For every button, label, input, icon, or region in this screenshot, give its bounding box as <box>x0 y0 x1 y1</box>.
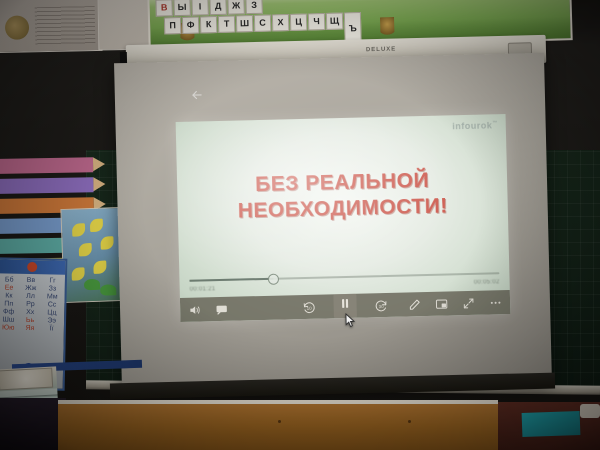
letter-card: Ж <box>227 0 244 15</box>
progress-track[interactable] <box>189 272 499 282</box>
rewind-10-icon[interactable]: 10 <box>303 300 316 313</box>
letter-card: Ы <box>173 0 190 16</box>
chart-cell: Яя <box>19 325 40 332</box>
cabinet-nail <box>278 420 281 423</box>
chart-cell: Ее <box>0 284 19 291</box>
chart-dot-icon <box>27 262 37 272</box>
emblem-icon <box>5 15 29 39</box>
controls-right-group <box>408 296 502 311</box>
chart-cell: Мм <box>42 293 63 300</box>
forward-30-icon[interactable]: 30 <box>374 298 387 311</box>
svg-text:30: 30 <box>379 303 385 308</box>
letter-card: Ф <box>182 16 199 33</box>
pencil-icon <box>0 157 93 174</box>
chart-cell: Кк <box>0 292 19 299</box>
letter-card: С <box>254 14 271 31</box>
controls-left-group <box>188 302 228 316</box>
time-total: 00:05:02 <box>474 279 500 286</box>
flower-poster <box>60 207 123 303</box>
letter-card: І <box>191 0 208 16</box>
chart-cell: Фф <box>0 308 19 315</box>
wall-poster-emblem <box>0 0 103 53</box>
volume-icon[interactable] <box>188 303 201 316</box>
leaf-icon <box>100 284 116 296</box>
chart-cell: Зз <box>42 285 63 292</box>
video-player[interactable]: infourok™ БЕЗ РЕАЛЬНОЙ НЕОБХОДИМОСТИ! 00… <box>176 114 511 322</box>
flower-petal-icon <box>79 243 92 256</box>
letter-card: Ч <box>308 13 325 30</box>
chart-cell: Рр <box>20 301 41 308</box>
letter-card: Ш <box>236 15 253 32</box>
chart-cell: Ьь <box>20 317 41 324</box>
wooden-cabinet <box>58 400 498 450</box>
flower-petal-icon <box>93 261 106 274</box>
pencil-icon <box>0 177 94 194</box>
letter-card: Х <box>272 14 289 31</box>
letter-card: Ц <box>290 13 307 30</box>
infourok-watermark: infourok™ <box>452 120 498 131</box>
left-dark-furniture <box>0 398 66 450</box>
chart-cell: Шш <box>0 316 19 323</box>
progress-filled <box>189 278 273 282</box>
captions-icon[interactable] <box>215 302 228 315</box>
time-elapsed: 00:01:21 <box>190 286 216 293</box>
slide-title: БЕЗ РЕАЛЬНОЙ НЕОБХОДИМОСТИ! <box>177 166 508 225</box>
flower-petal-icon <box>90 219 103 232</box>
flower-petal-icon <box>72 223 85 236</box>
chart-cell: Жж <box>20 285 41 292</box>
alphabet-chart-grid: Бб Вв Гг Ее Жж Зз Кк Лл Мм Пп Рр Сс Фф Х… <box>0 273 65 335</box>
flower-petal-icon <box>100 236 113 249</box>
cabinet-nail <box>408 420 411 423</box>
pause-icon[interactable] <box>338 297 351 310</box>
letter-card: К <box>200 16 217 33</box>
letter-card: П <box>164 17 181 34</box>
picture-in-picture-icon[interactable] <box>435 297 448 310</box>
letter-card: Щ <box>326 12 343 29</box>
white-object <box>580 404 600 418</box>
letter-card: З <box>245 0 262 14</box>
poster-text-lines <box>35 6 96 45</box>
chart-cell: Гг <box>42 277 63 284</box>
banner-tree-icon <box>380 17 395 37</box>
mouse-cursor <box>345 313 356 328</box>
fullscreen-icon[interactable] <box>462 296 475 309</box>
chart-cell: Бб <box>0 276 20 283</box>
alphabet-chart-header <box>0 259 65 274</box>
chart-cell: Ээ <box>41 317 62 324</box>
notebook-cover <box>0 368 53 391</box>
back-arrow-icon[interactable] <box>190 88 204 102</box>
leaf-icon <box>84 279 100 291</box>
chart-cell: Вв <box>20 277 41 284</box>
classroom-photo: В Ы І Д Ж З П Ф К Т Ш С Х Ц Ч Щ Ъ <box>0 0 600 450</box>
svg-text:10: 10 <box>307 305 313 310</box>
chart-cell: Її <box>41 325 62 332</box>
flower-petal-icon <box>71 267 84 280</box>
letter-card: Т <box>218 15 235 32</box>
progress-thumb[interactable] <box>268 274 279 285</box>
screen-brand-label: DELUXE <box>366 47 396 54</box>
chart-cell: Хх <box>20 309 41 316</box>
chart-cell: Цц <box>41 309 62 316</box>
chart-cell: Пп <box>0 300 19 307</box>
chart-cell: Сс <box>42 301 63 308</box>
more-options-icon[interactable] <box>489 296 502 309</box>
chart-cell: Лл <box>20 293 41 300</box>
chart-cell: Юю <box>0 324 19 331</box>
letter-card: В <box>155 0 172 17</box>
teal-object <box>522 411 581 437</box>
pencil-icon[interactable] <box>408 298 421 311</box>
letter-card: Д <box>209 0 226 15</box>
